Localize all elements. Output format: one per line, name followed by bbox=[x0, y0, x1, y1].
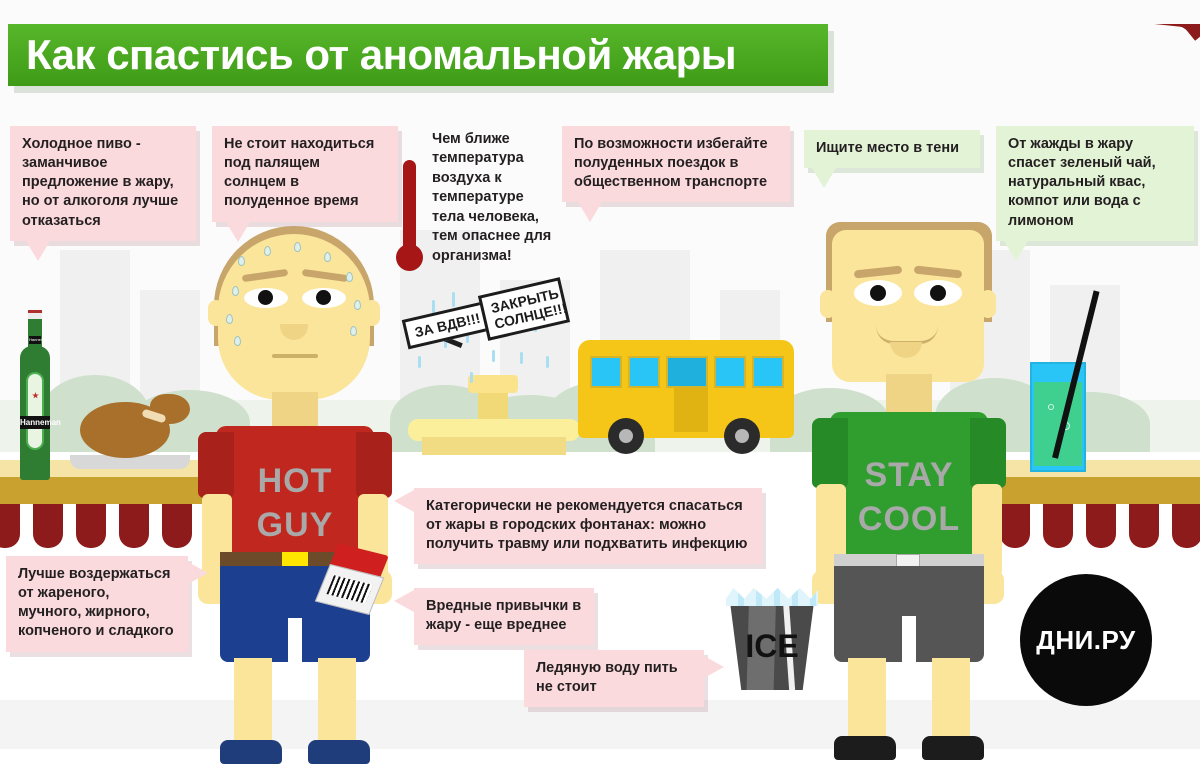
bottle-neck-label: Hanneman bbox=[29, 336, 41, 344]
bubble-icewater-text: Ледяную воду пить не стоит bbox=[536, 660, 678, 695]
hot-guy-shirt: HOT GUY bbox=[216, 426, 374, 564]
bubble-temperature: Чем ближе температура воздуха к температ… bbox=[432, 130, 556, 266]
bubble-tail bbox=[394, 490, 414, 512]
bottle-label: Hanneman bbox=[20, 416, 50, 429]
hot-guy-sleeve-right bbox=[356, 432, 392, 498]
bubble-tail bbox=[188, 562, 208, 584]
awning-stripe bbox=[937, 24, 1200, 41]
ice-bucket-label: ICE bbox=[724, 628, 820, 665]
glass-bubble-1 bbox=[1048, 404, 1054, 410]
bubble-shade-text: Ищите место в тени bbox=[816, 140, 959, 156]
bubble-tail bbox=[812, 168, 836, 188]
hot-guy-ear-right bbox=[364, 300, 380, 326]
bubble-shade: Ищите место в тени bbox=[804, 130, 980, 168]
bubble-drinks-text: От жажды в жару спасет зеленый чай, нату… bbox=[1008, 136, 1156, 229]
awning-stripes bbox=[780, 24, 1200, 140]
page-title-text: Как спастись от аномальной жары bbox=[26, 31, 736, 79]
hot-guy-shirt-line2: GUY bbox=[216, 506, 374, 545]
hot-guy-ear-left bbox=[208, 300, 224, 326]
floor-strip bbox=[0, 700, 1200, 749]
bus-window bbox=[752, 356, 784, 388]
hot-guy-shirt-line1: HOT bbox=[216, 462, 374, 501]
cool-guy-shorts-gap bbox=[902, 616, 916, 662]
bus-hub-rear bbox=[735, 429, 749, 443]
bubble-transport: По возможности избегайте полуденных поез… bbox=[562, 126, 790, 202]
thermometer-stem bbox=[403, 160, 416, 255]
cool-guy-leg-right bbox=[932, 658, 970, 742]
sweat-drop bbox=[226, 314, 233, 324]
awning-stripe bbox=[925, 24, 1200, 37]
awning-stripe bbox=[923, 24, 1200, 39]
sign-closesun-text: ЗАКРЫТЬ СОЛНЦЕ!!! bbox=[489, 285, 568, 332]
bubble-tail bbox=[26, 241, 50, 261]
cool-guy-shirt-line1: STAY bbox=[830, 456, 988, 495]
sweat-drop bbox=[294, 242, 301, 252]
sweat-drop bbox=[354, 300, 361, 310]
bus-window bbox=[714, 356, 746, 388]
ice-cubes bbox=[726, 588, 818, 606]
infographic-canvas: Как спастись от аномальной жары Hanneman… bbox=[0, 0, 1200, 749]
bottle-cap bbox=[28, 310, 42, 319]
sweat-drop bbox=[232, 286, 239, 296]
cool-guy-head bbox=[832, 230, 984, 382]
awning-stripe bbox=[1003, 24, 1200, 29]
hot-guy-leg-right bbox=[318, 658, 356, 746]
beer-bottle: Hanneman Hanneman bbox=[16, 310, 54, 480]
cool-guy-ear-right bbox=[980, 290, 996, 318]
bubble-transport-text: По возможности избегайте полуденных поез… bbox=[574, 136, 768, 190]
character-hot-guy: HOT GUY bbox=[196, 226, 396, 686]
water-drop bbox=[492, 350, 495, 362]
cool-guy-neck bbox=[886, 374, 932, 416]
left-counter-band bbox=[0, 477, 205, 504]
bubble-fountain: Категорически не рекомендуется спасаться… bbox=[414, 488, 762, 564]
bubble-habits: Вредные привычки в жару - еще вреднее bbox=[414, 588, 594, 645]
city-bus bbox=[578, 340, 794, 450]
fountain-nozzle bbox=[468, 375, 518, 393]
bubble-tail bbox=[704, 656, 724, 678]
right-counter-valance bbox=[1000, 504, 1200, 548]
cool-guy-shirt: STAY COOL bbox=[830, 412, 988, 562]
bubble-beer: Холодное пиво - заманчивое предложение в… bbox=[10, 126, 196, 241]
bubble-habits-text: Вредные привычки в жару - еще вреднее bbox=[426, 598, 581, 633]
bubble-tail bbox=[394, 590, 414, 612]
water-drop bbox=[418, 356, 421, 368]
water-drop bbox=[520, 352, 523, 364]
bubble-tail bbox=[578, 202, 602, 222]
fountain-base bbox=[422, 437, 566, 455]
water-drop bbox=[546, 356, 549, 368]
fountain-column bbox=[478, 393, 508, 421]
page-title: Как спастись от аномальной жары bbox=[8, 24, 828, 86]
cool-guy-pupil-right bbox=[930, 285, 946, 301]
cool-guy-sleeve-right bbox=[970, 418, 1006, 488]
bubble-sun: Не стоит находиться под палящем солнцем … bbox=[212, 126, 398, 222]
sweat-drop bbox=[234, 336, 241, 346]
water-drop bbox=[470, 372, 473, 383]
bubble-beer-text: Холодное пиво - заманчивое предложение в… bbox=[22, 136, 178, 229]
sweat-drop bbox=[350, 326, 357, 336]
bus-window bbox=[666, 356, 708, 388]
awning-stripe bbox=[932, 24, 1200, 36]
right-counter-band bbox=[1000, 477, 1200, 504]
bottle-neck bbox=[28, 319, 42, 349]
hot-guy-shoe-right bbox=[308, 740, 370, 764]
fountain bbox=[408, 375, 580, 453]
dni-ru-logo[interactable]: ДНИ.РУ bbox=[1020, 574, 1152, 706]
hot-guy-pupil-left bbox=[258, 290, 273, 305]
bus-door bbox=[674, 388, 708, 432]
cold-drink-glass bbox=[1030, 350, 1086, 472]
bubble-food-text: Лучше воздержаться от жареного, мучного,… bbox=[18, 566, 174, 639]
dni-ru-logo-text: ДНИ.РУ bbox=[1036, 625, 1135, 656]
bubble-drinks: От жажды в жару спасет зеленый чай, нату… bbox=[996, 126, 1194, 241]
bus-hub-front bbox=[619, 429, 633, 443]
awning-stripe bbox=[944, 24, 1200, 34]
bubble-sun-text: Не стоит находиться под палящем солнцем … bbox=[224, 136, 374, 209]
sweat-drop bbox=[346, 272, 353, 282]
cool-guy-ear-left bbox=[820, 290, 836, 318]
cool-guy-pupil-left bbox=[870, 285, 886, 301]
cool-guy-shoe-left bbox=[834, 736, 896, 760]
water-drop bbox=[452, 292, 455, 307]
hot-guy-shorts-gap bbox=[288, 618, 302, 664]
thermometer-bulb bbox=[396, 244, 423, 271]
awning-stripe bbox=[960, 24, 1200, 33]
bus-window bbox=[628, 356, 660, 388]
character-cool-guy: STAY COOL bbox=[812, 222, 1012, 692]
bubble-tail bbox=[226, 222, 250, 242]
bubble-food: Лучше воздержаться от жареного, мучного,… bbox=[6, 556, 188, 652]
bubble-icewater: Ледяную воду пить не стоит bbox=[524, 650, 704, 707]
cool-guy-shoe-right bbox=[922, 736, 984, 760]
bubble-temperature-text: Чем ближе температура воздуха к температ… bbox=[432, 131, 551, 264]
bubble-tail bbox=[1004, 241, 1028, 261]
hot-guy-leg-left bbox=[234, 658, 272, 746]
cool-guy-leg-left bbox=[848, 658, 886, 742]
sweat-drop bbox=[264, 246, 271, 256]
hot-guy-mouth bbox=[272, 354, 318, 358]
bus-window bbox=[590, 356, 622, 388]
hot-guy-sleeve-left bbox=[198, 432, 234, 498]
sweat-drop bbox=[238, 256, 245, 266]
sweat-drop bbox=[324, 252, 331, 262]
ice-bucket: ICE bbox=[724, 586, 820, 690]
bottle-oval bbox=[26, 372, 44, 450]
hot-guy-shoe-left bbox=[220, 740, 282, 764]
awning-stripe bbox=[927, 24, 1200, 40]
left-counter-valance bbox=[0, 504, 205, 548]
hot-guy-pupil-right bbox=[316, 290, 331, 305]
bubble-fountain-text: Категорически не рекомендуется спасаться… bbox=[426, 498, 747, 552]
cool-guy-shirt-line2: COOL bbox=[830, 500, 988, 539]
cool-guy-sleeve-left bbox=[812, 418, 848, 488]
